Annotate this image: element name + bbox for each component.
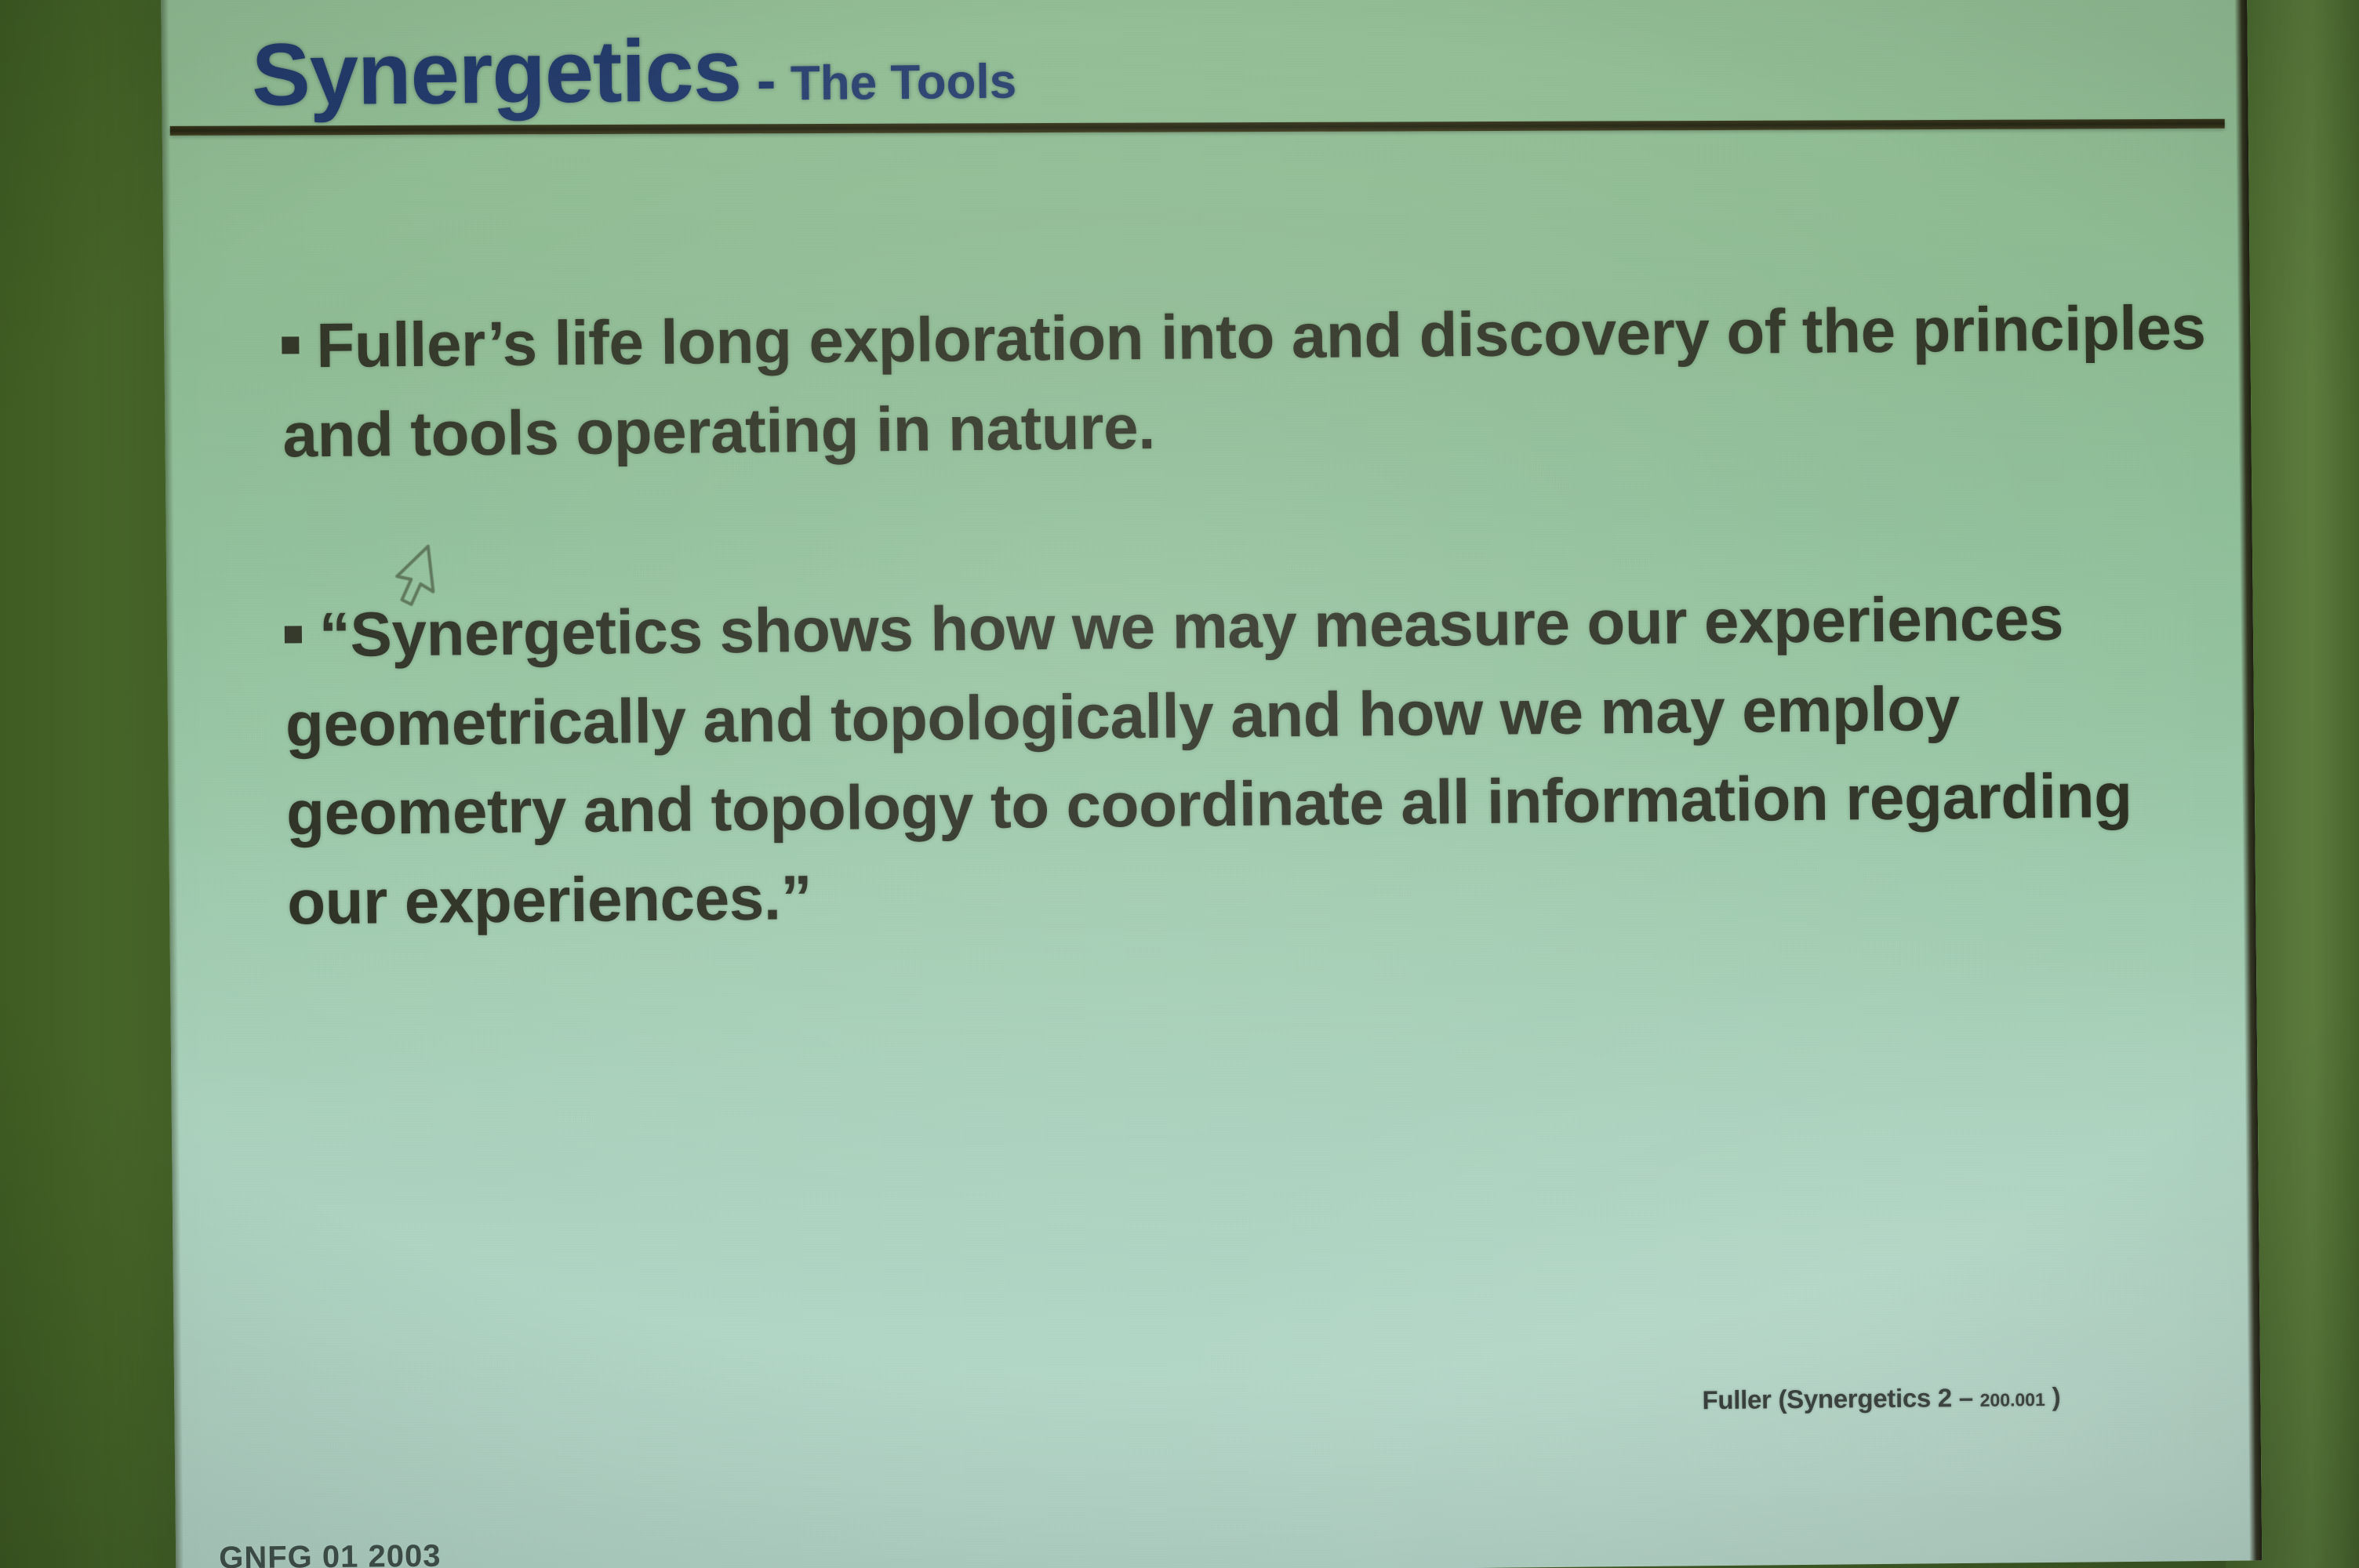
square-bullet-icon (282, 336, 299, 354)
bullet-paragraph: Fuller’s life long exploration into and … (282, 283, 2212, 480)
slide-body: Fuller’s life long exploration into and … (282, 283, 2217, 947)
bullet-text: “Synergetics shows how we may measure ou… (285, 583, 2132, 938)
square-bullet-icon (285, 626, 302, 643)
citation-prefix: Fuller (Synergetics 2 – (1702, 1383, 1979, 1414)
bullet-paragraph: “Synergetics shows how we may measure ou… (284, 572, 2216, 947)
citation: Fuller (Synergetics 2 – 200.001 ) (1702, 1382, 2060, 1415)
title-subtitle: The Tools (791, 55, 1017, 111)
screenshot-root: Synergetics - The Tools Fuller’s life lo… (0, 0, 2359, 1568)
list-item: “Synergetics shows how we may measure ou… (284, 572, 2216, 947)
slide-footer: GNFG 01 2003 (219, 1539, 442, 1568)
mouse-cursor-arrow-icon (394, 545, 443, 607)
citation-number: 200.001 (1980, 1389, 2045, 1410)
slide-title-block: Synergetics - The Tools (205, 13, 2182, 161)
list-item: Fuller’s life long exploration into and … (282, 283, 2212, 480)
projected-slide: Synergetics - The Tools Fuller’s life lo… (161, 0, 2262, 1568)
bullet-text: Fuller’s life long exploration into and … (282, 292, 2206, 470)
title-dash: - (741, 47, 791, 113)
citation-suffix: ) (2045, 1382, 2061, 1411)
page-title: Synergetics - The Tools (252, 24, 1017, 119)
title-main: Synergetics (251, 21, 741, 124)
